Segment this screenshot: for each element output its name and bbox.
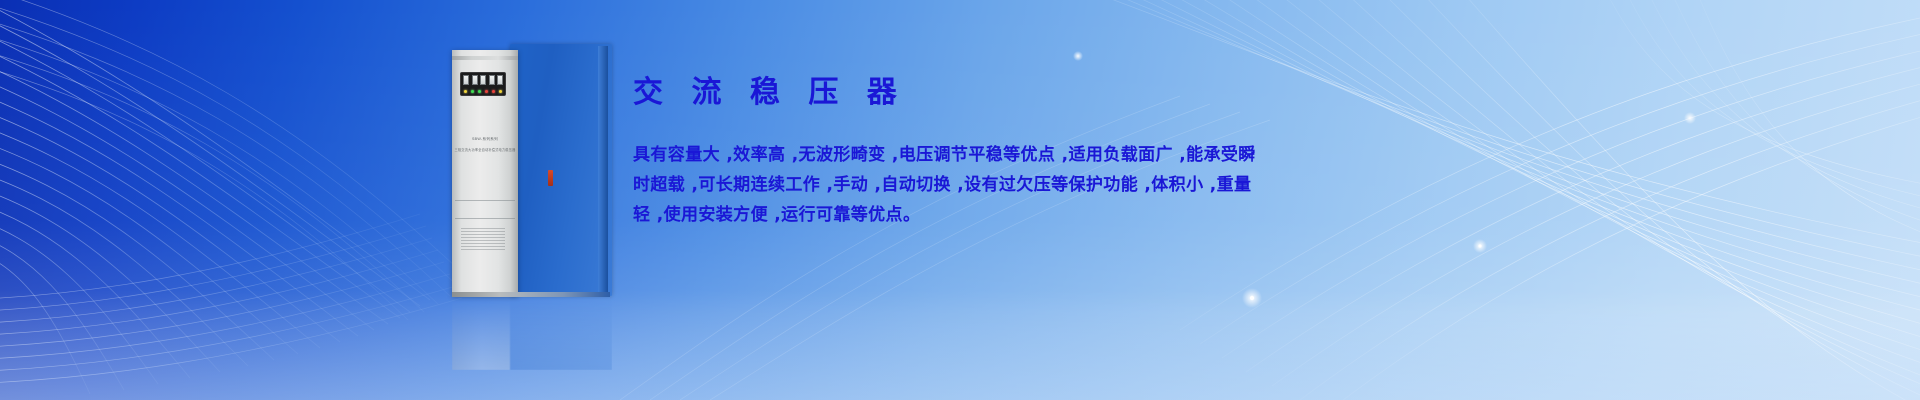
cabinet-side-edge xyxy=(598,46,608,294)
product-model-label: SBW-系列系列 xyxy=(452,137,518,142)
description-line-2: 时超载 ,可长期连续工作 ,手动 ,自动切换 ,设有过欠压等保护功能 ,体积小 … xyxy=(633,170,1643,200)
indicator-lamp xyxy=(471,90,474,93)
banner-text-block: 交 流 稳 压 器 具有容量大 ,效率高 ,无波形畸变 ,电压调节平稳等优点 ,… xyxy=(633,78,1643,230)
background-floor-reflection xyxy=(0,290,1920,400)
product-reflection xyxy=(452,296,612,370)
meter-gauge xyxy=(497,75,503,85)
indicator-lamp-row xyxy=(463,90,503,93)
description-line-3: 轻 ,使用安装方便 ,运行可靠等优点。 xyxy=(633,200,1643,230)
product-sub-label: 三相交流大功率全自动补偿式电力稳压器 xyxy=(452,147,518,152)
cabinet-vent-grille xyxy=(461,228,505,250)
control-panel xyxy=(460,72,506,96)
meter-row xyxy=(463,75,503,85)
cabinet-seam xyxy=(455,200,515,201)
indicator-lamp xyxy=(464,90,467,93)
description-line-1: 具有容量大 ,效率高 ,无波形畸变 ,电压调节平稳等优点 ,适用负载面广 ,能承… xyxy=(633,140,1643,170)
description-text: 具有容量大 ,效率高 ,无波形畸变 ,电压调节平稳等优点 ,适用负载面广 ,能承… xyxy=(633,140,1643,230)
indicator-lamp xyxy=(492,90,495,93)
meter-gauge xyxy=(463,75,469,85)
page-title: 交 流 稳 压 器 xyxy=(633,78,1643,108)
reflection-side xyxy=(510,296,612,370)
promo-banner: SBW-系列系列 三相交流大功率全自动补偿式电力稳压器 交 流 稳 压 器 具有… xyxy=(0,0,1920,400)
cabinet-top-edge xyxy=(452,56,518,60)
cabinet-front-panel: SBW-系列系列 三相交流大功率全自动补偿式电力稳压器 xyxy=(452,50,518,296)
cabinet-door-handle xyxy=(548,170,553,186)
product-image-voltage-stabilizer: SBW-系列系列 三相交流大功率全自动补偿式电力稳压器 xyxy=(452,44,612,296)
indicator-lamp xyxy=(485,90,488,93)
meter-gauge xyxy=(489,75,495,85)
cabinet-seam xyxy=(455,218,515,219)
meter-gauge xyxy=(480,75,486,85)
indicator-lamp xyxy=(478,90,481,93)
cabinet-side-panel xyxy=(510,44,612,296)
reflection-front xyxy=(452,296,518,370)
indicator-lamp xyxy=(499,90,502,93)
meter-gauge xyxy=(472,75,478,85)
